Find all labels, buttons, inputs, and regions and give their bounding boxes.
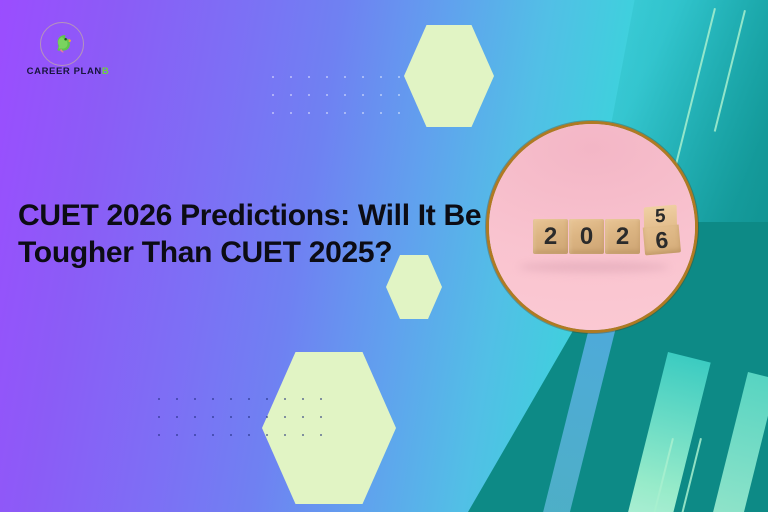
wooden-blocks: 2 0 2 5 6 bbox=[533, 206, 679, 254]
block-digit: 0 bbox=[569, 219, 604, 254]
block-digit: 2 bbox=[605, 219, 640, 254]
logo-wordmark: CAREER PLANB bbox=[16, 66, 120, 77]
parrot-bird-icon bbox=[40, 22, 84, 66]
logo-wordmark-text: CAREER PLAN bbox=[27, 66, 102, 77]
block-digit: 2 bbox=[533, 219, 568, 254]
flip-block-front-face: 6 bbox=[643, 224, 681, 255]
hexagon-top bbox=[404, 25, 494, 127]
blog-banner: CAREER PLANB CUET 2026 Predictions: Will… bbox=[0, 0, 768, 512]
page-title: CUET 2026 Predictions: Will It Be Toughe… bbox=[18, 198, 488, 271]
feature-photo: 2 0 2 5 6 bbox=[489, 124, 695, 330]
flipping-block: 5 6 bbox=[641, 205, 681, 256]
logo-accent-mark: B bbox=[102, 66, 109, 77]
block-shadow bbox=[519, 262, 669, 272]
site-logo[interactable]: CAREER PLANB bbox=[14, 22, 122, 84]
dot-grid-top bbox=[272, 76, 409, 123]
dot-grid-bottom bbox=[158, 398, 331, 445]
